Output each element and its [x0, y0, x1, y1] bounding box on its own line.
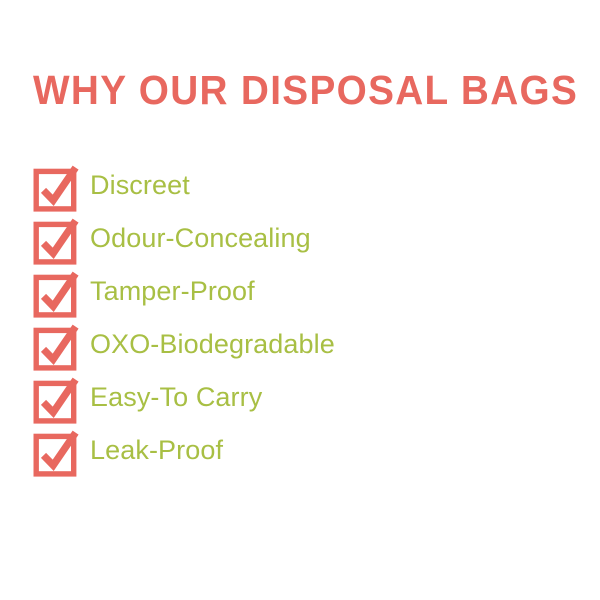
- list-item-label: Odour-Concealing: [90, 215, 311, 261]
- list-item: Leak-Proof: [33, 427, 573, 480]
- list-item-label: Leak-Proof: [90, 427, 223, 473]
- list-item-label: Discreet: [90, 162, 190, 208]
- checked-checkbox-icon: [33, 430, 81, 476]
- disposal-bags-benefits-graphic: WHY OUR DISPOSAL BAGS Discreet Odour-Con…: [0, 0, 600, 600]
- checked-checkbox-icon: [33, 271, 81, 317]
- checked-checkbox-icon: [33, 218, 81, 264]
- list-item: Easy-To Carry: [33, 374, 573, 427]
- page-title: WHY OUR DISPOSAL BAGS: [33, 67, 543, 113]
- benefits-list: Discreet Odour-Concealing Tamper-Proof: [33, 162, 573, 480]
- checked-checkbox-icon: [33, 165, 81, 211]
- list-item: OXO-Biodegradable: [33, 321, 573, 374]
- list-item-label: Tamper-Proof: [90, 268, 255, 314]
- list-item: Tamper-Proof: [33, 268, 573, 321]
- list-item-label: OXO-Biodegradable: [90, 321, 335, 367]
- list-item-label: Easy-To Carry: [90, 374, 262, 420]
- list-item: Odour-Concealing: [33, 215, 573, 268]
- list-item: Discreet: [33, 162, 573, 215]
- checked-checkbox-icon: [33, 324, 81, 370]
- checked-checkbox-icon: [33, 377, 81, 423]
